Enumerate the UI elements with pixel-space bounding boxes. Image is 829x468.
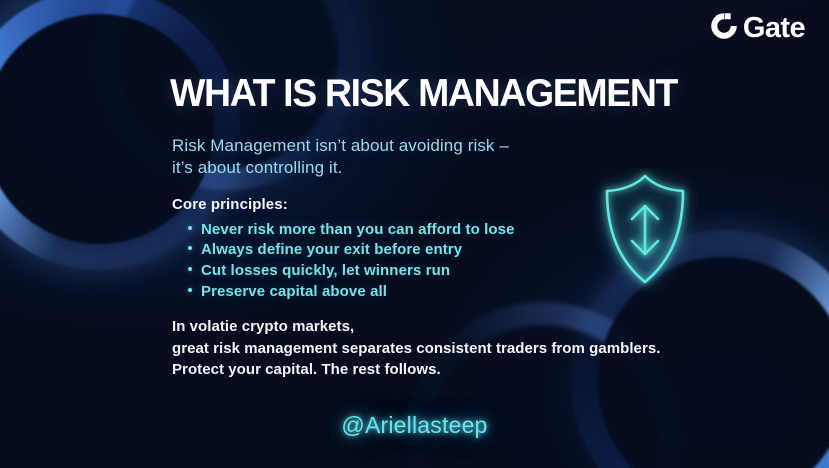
shield-illustration: [592, 168, 698, 292]
subtitle: Risk Management isn’t about avoiding ris…: [172, 135, 509, 179]
list-item-label: Preserve capital above all: [201, 282, 387, 303]
bullet-dot-icon: [188, 288, 192, 292]
list-item: Always define your exit before entry: [172, 240, 515, 261]
bullet-dot-icon: [188, 226, 192, 230]
closing-line-1: In volatie crypto markets,: [172, 316, 660, 338]
bullet-dot-icon: [188, 267, 192, 271]
list-item-label: Always define your exit before entry: [201, 240, 462, 261]
core-principles-block: Core principles: Never risk more than yo…: [172, 196, 515, 303]
core-principles-heading: Core principles:: [172, 196, 515, 215]
gate-circle-icon: [710, 12, 738, 45]
bullet-dot-icon: [188, 246, 192, 250]
list-item-label: Cut losses quickly, let winners run: [201, 261, 450, 282]
list-item-label: Never risk more than you can afford to l…: [201, 220, 515, 241]
closing-line-3: Protect your capital. The rest follows.: [172, 359, 660, 381]
gate-logo[interactable]: Gate: [710, 12, 805, 45]
page-title: WHAT IS RISK MANAGEMENT: [170, 74, 677, 113]
list-item: Cut losses quickly, let winners run: [172, 261, 515, 282]
list-item: Never risk more than you can afford to l…: [172, 220, 515, 241]
shield-with-up-down-arrow-icon: [592, 168, 698, 292]
closing-paragraph: In volatie crypto markets, great risk ma…: [172, 316, 660, 381]
subtitle-line-1: Risk Management isn’t about avoiding ris…: [172, 135, 509, 157]
gate-logo-text: Gate: [743, 14, 805, 43]
slide-canvas: Gate WHAT IS RISK MANAGEMENT Risk Manage…: [0, 0, 829, 468]
social-handle[interactable]: @Ariellasteep: [0, 412, 829, 439]
subtitle-line-2: it’s about controlling it.: [172, 157, 509, 179]
core-principles-list: Never risk more than you can afford to l…: [172, 220, 515, 303]
closing-line-2: great risk management separates consiste…: [172, 338, 660, 360]
list-item: Preserve capital above all: [172, 282, 515, 303]
